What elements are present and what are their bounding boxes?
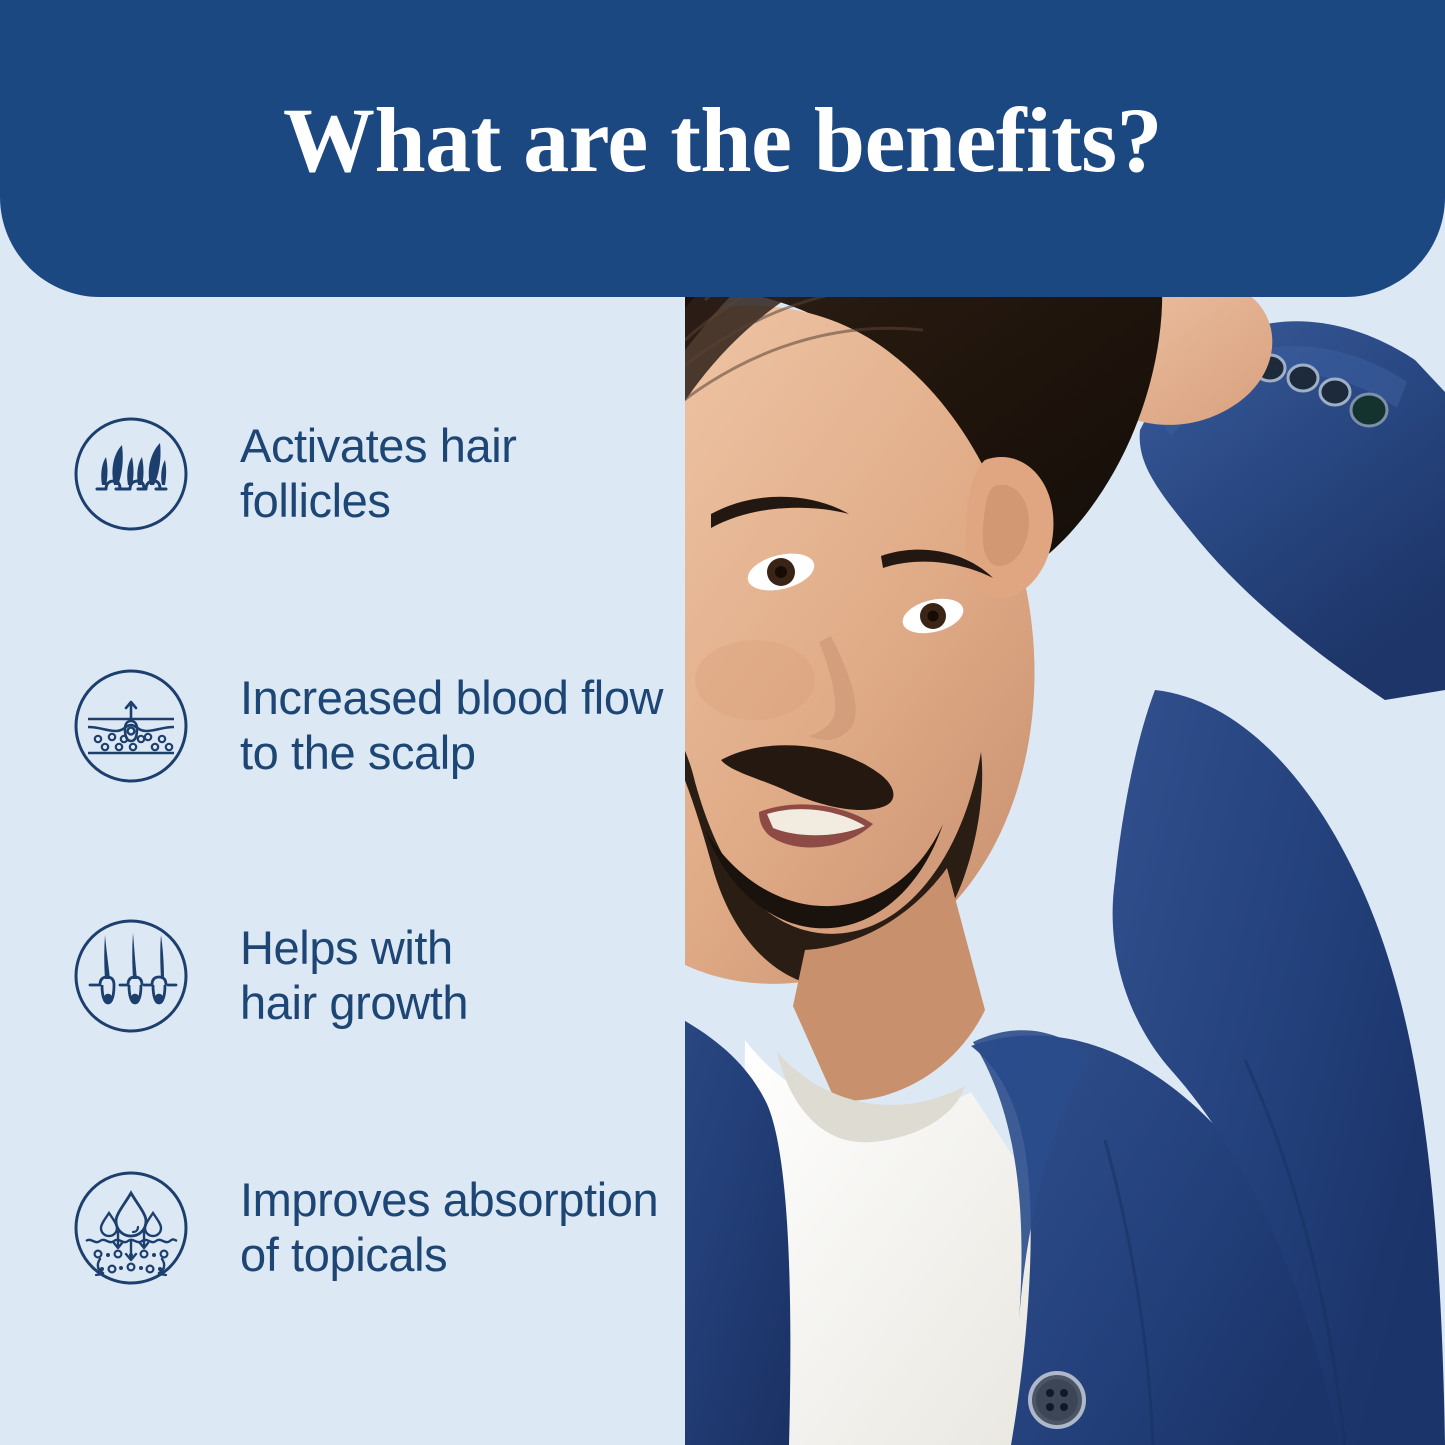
infographic-canvas: What are the benefits? Ac xyxy=(0,0,1445,1445)
benefit-item-improves-absorption: Improves absorption of topicals xyxy=(72,1169,658,1287)
benefit-label: Increased blood flow to the scalp xyxy=(240,671,663,781)
blood-flow-scalp-icon xyxy=(72,667,190,785)
hair-growth-icon xyxy=(72,917,190,1035)
benefit-item-increased-blood-flow: Increased blood flow to the scalp xyxy=(72,667,663,785)
benefit-label: Helps with hair growth xyxy=(240,921,468,1031)
page-title: What are the benefits? xyxy=(0,92,1445,189)
benefit-label: Improves absorption of topicals xyxy=(240,1173,658,1283)
topical-absorption-icon xyxy=(72,1169,190,1287)
benefit-item-activates-hair-follicles: Activates hair follicles xyxy=(72,415,517,533)
hair-follicles-icon xyxy=(72,415,190,533)
benefit-item-helps-hair-growth: Helps with hair growth xyxy=(72,917,468,1035)
header-banner: What are the benefits? xyxy=(0,0,1445,297)
benefit-label: Activates hair follicles xyxy=(240,419,517,529)
